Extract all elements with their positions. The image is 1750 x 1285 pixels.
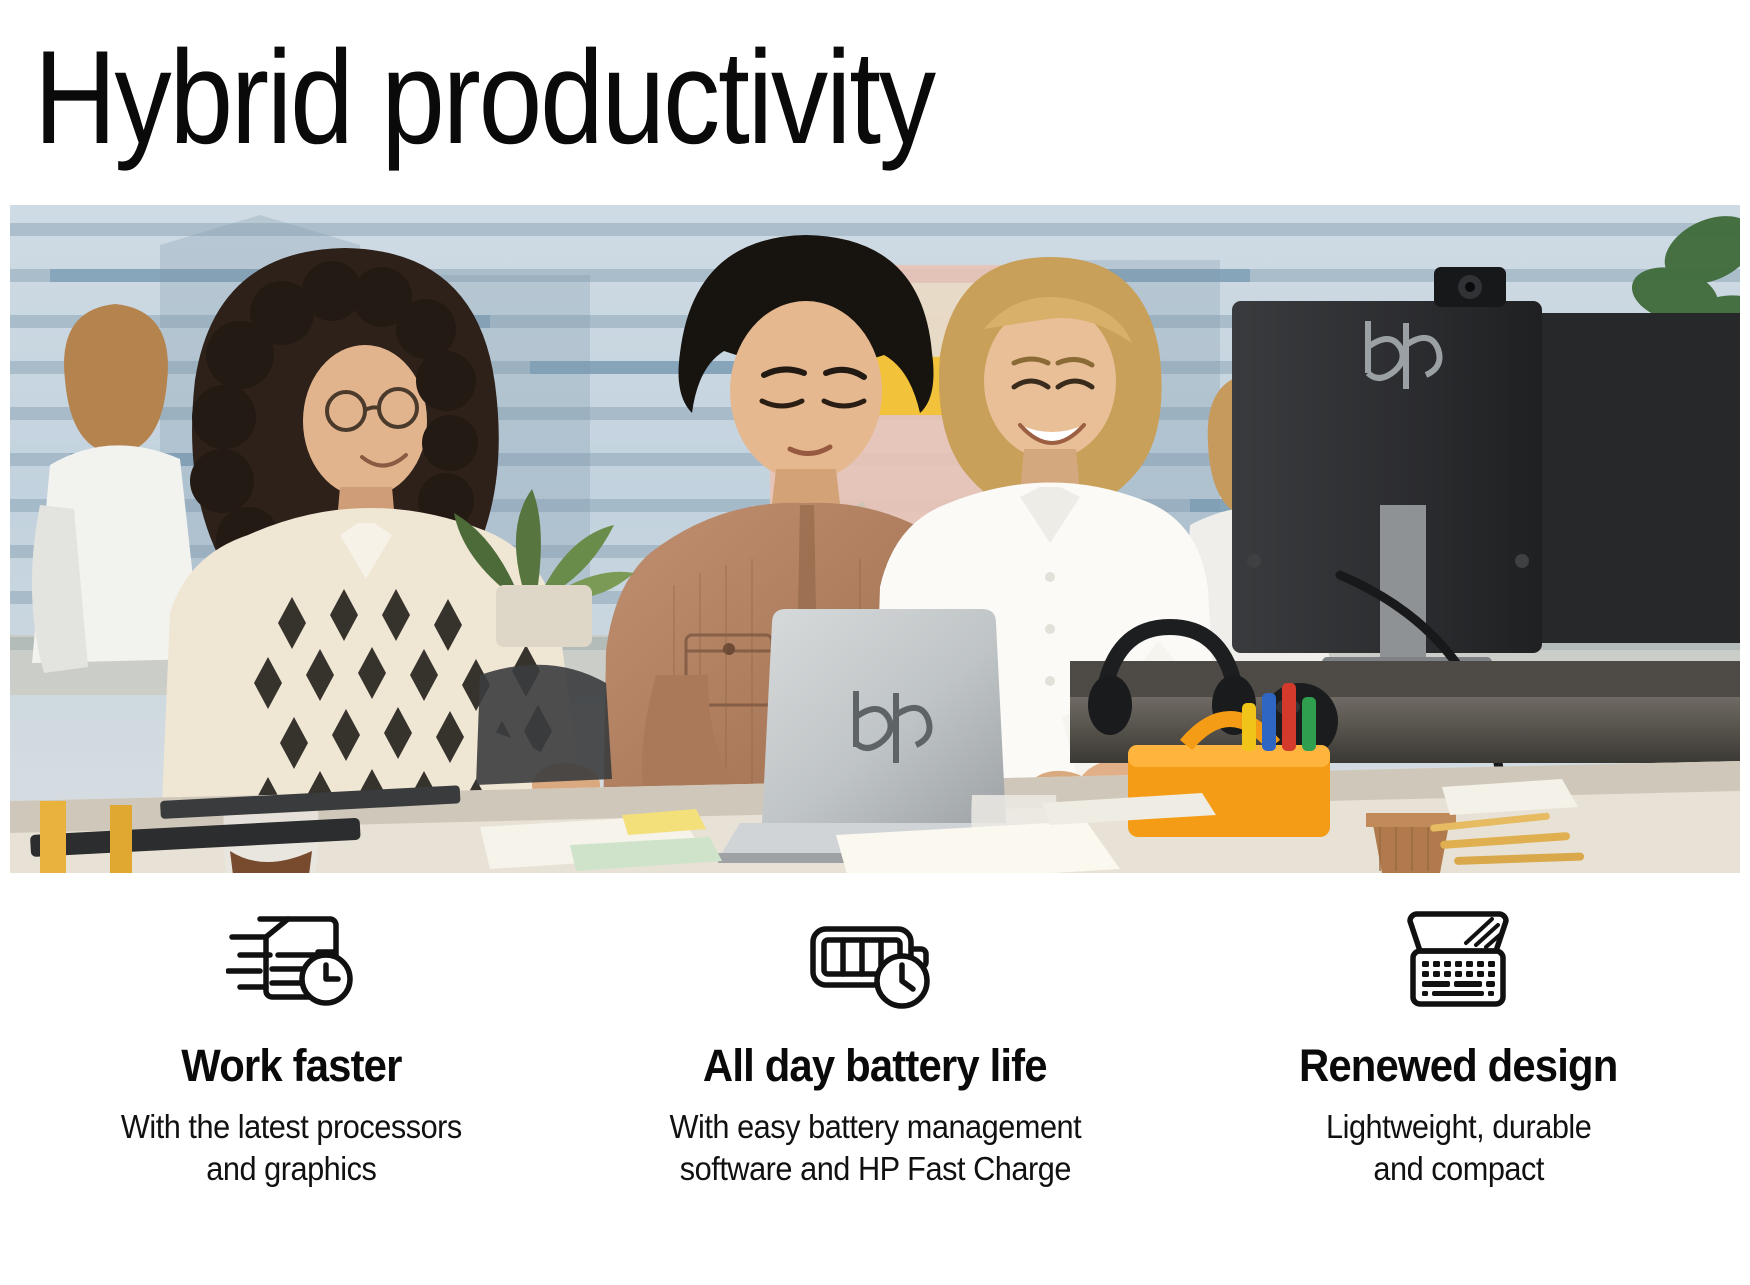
laptop-keyboard-icon [1392,900,1524,1018]
feature-title: All day battery life [703,1040,1047,1092]
hero-illustration [10,205,1740,873]
page-title: Hybrid productivity [34,32,934,165]
feature-description: With the latest processors and graphics [121,1106,462,1190]
battery-clock-icon [807,900,943,1018]
feature-renewed-design: Renewed design Lightweight, durable and … [1167,900,1750,1230]
feature-work-faster: Work faster With the latest processors a… [0,900,583,1230]
hero-photo [10,205,1740,873]
webcam [1434,267,1506,307]
feature-list: Work faster With the latest processors a… [0,900,1750,1230]
document-speed-stopwatch-icon [226,900,358,1018]
feature-description: With easy battery management software an… [669,1106,1081,1190]
feature-title: Renewed design [1299,1040,1618,1092]
feature-battery-life: All day battery life With easy battery m… [583,900,1166,1230]
feature-description: Lightweight, durable and compact [1326,1106,1591,1190]
hp-hybrid-productivity-banner: Hybrid productivity [0,0,1750,1285]
feature-title: Work faster [182,1040,402,1092]
